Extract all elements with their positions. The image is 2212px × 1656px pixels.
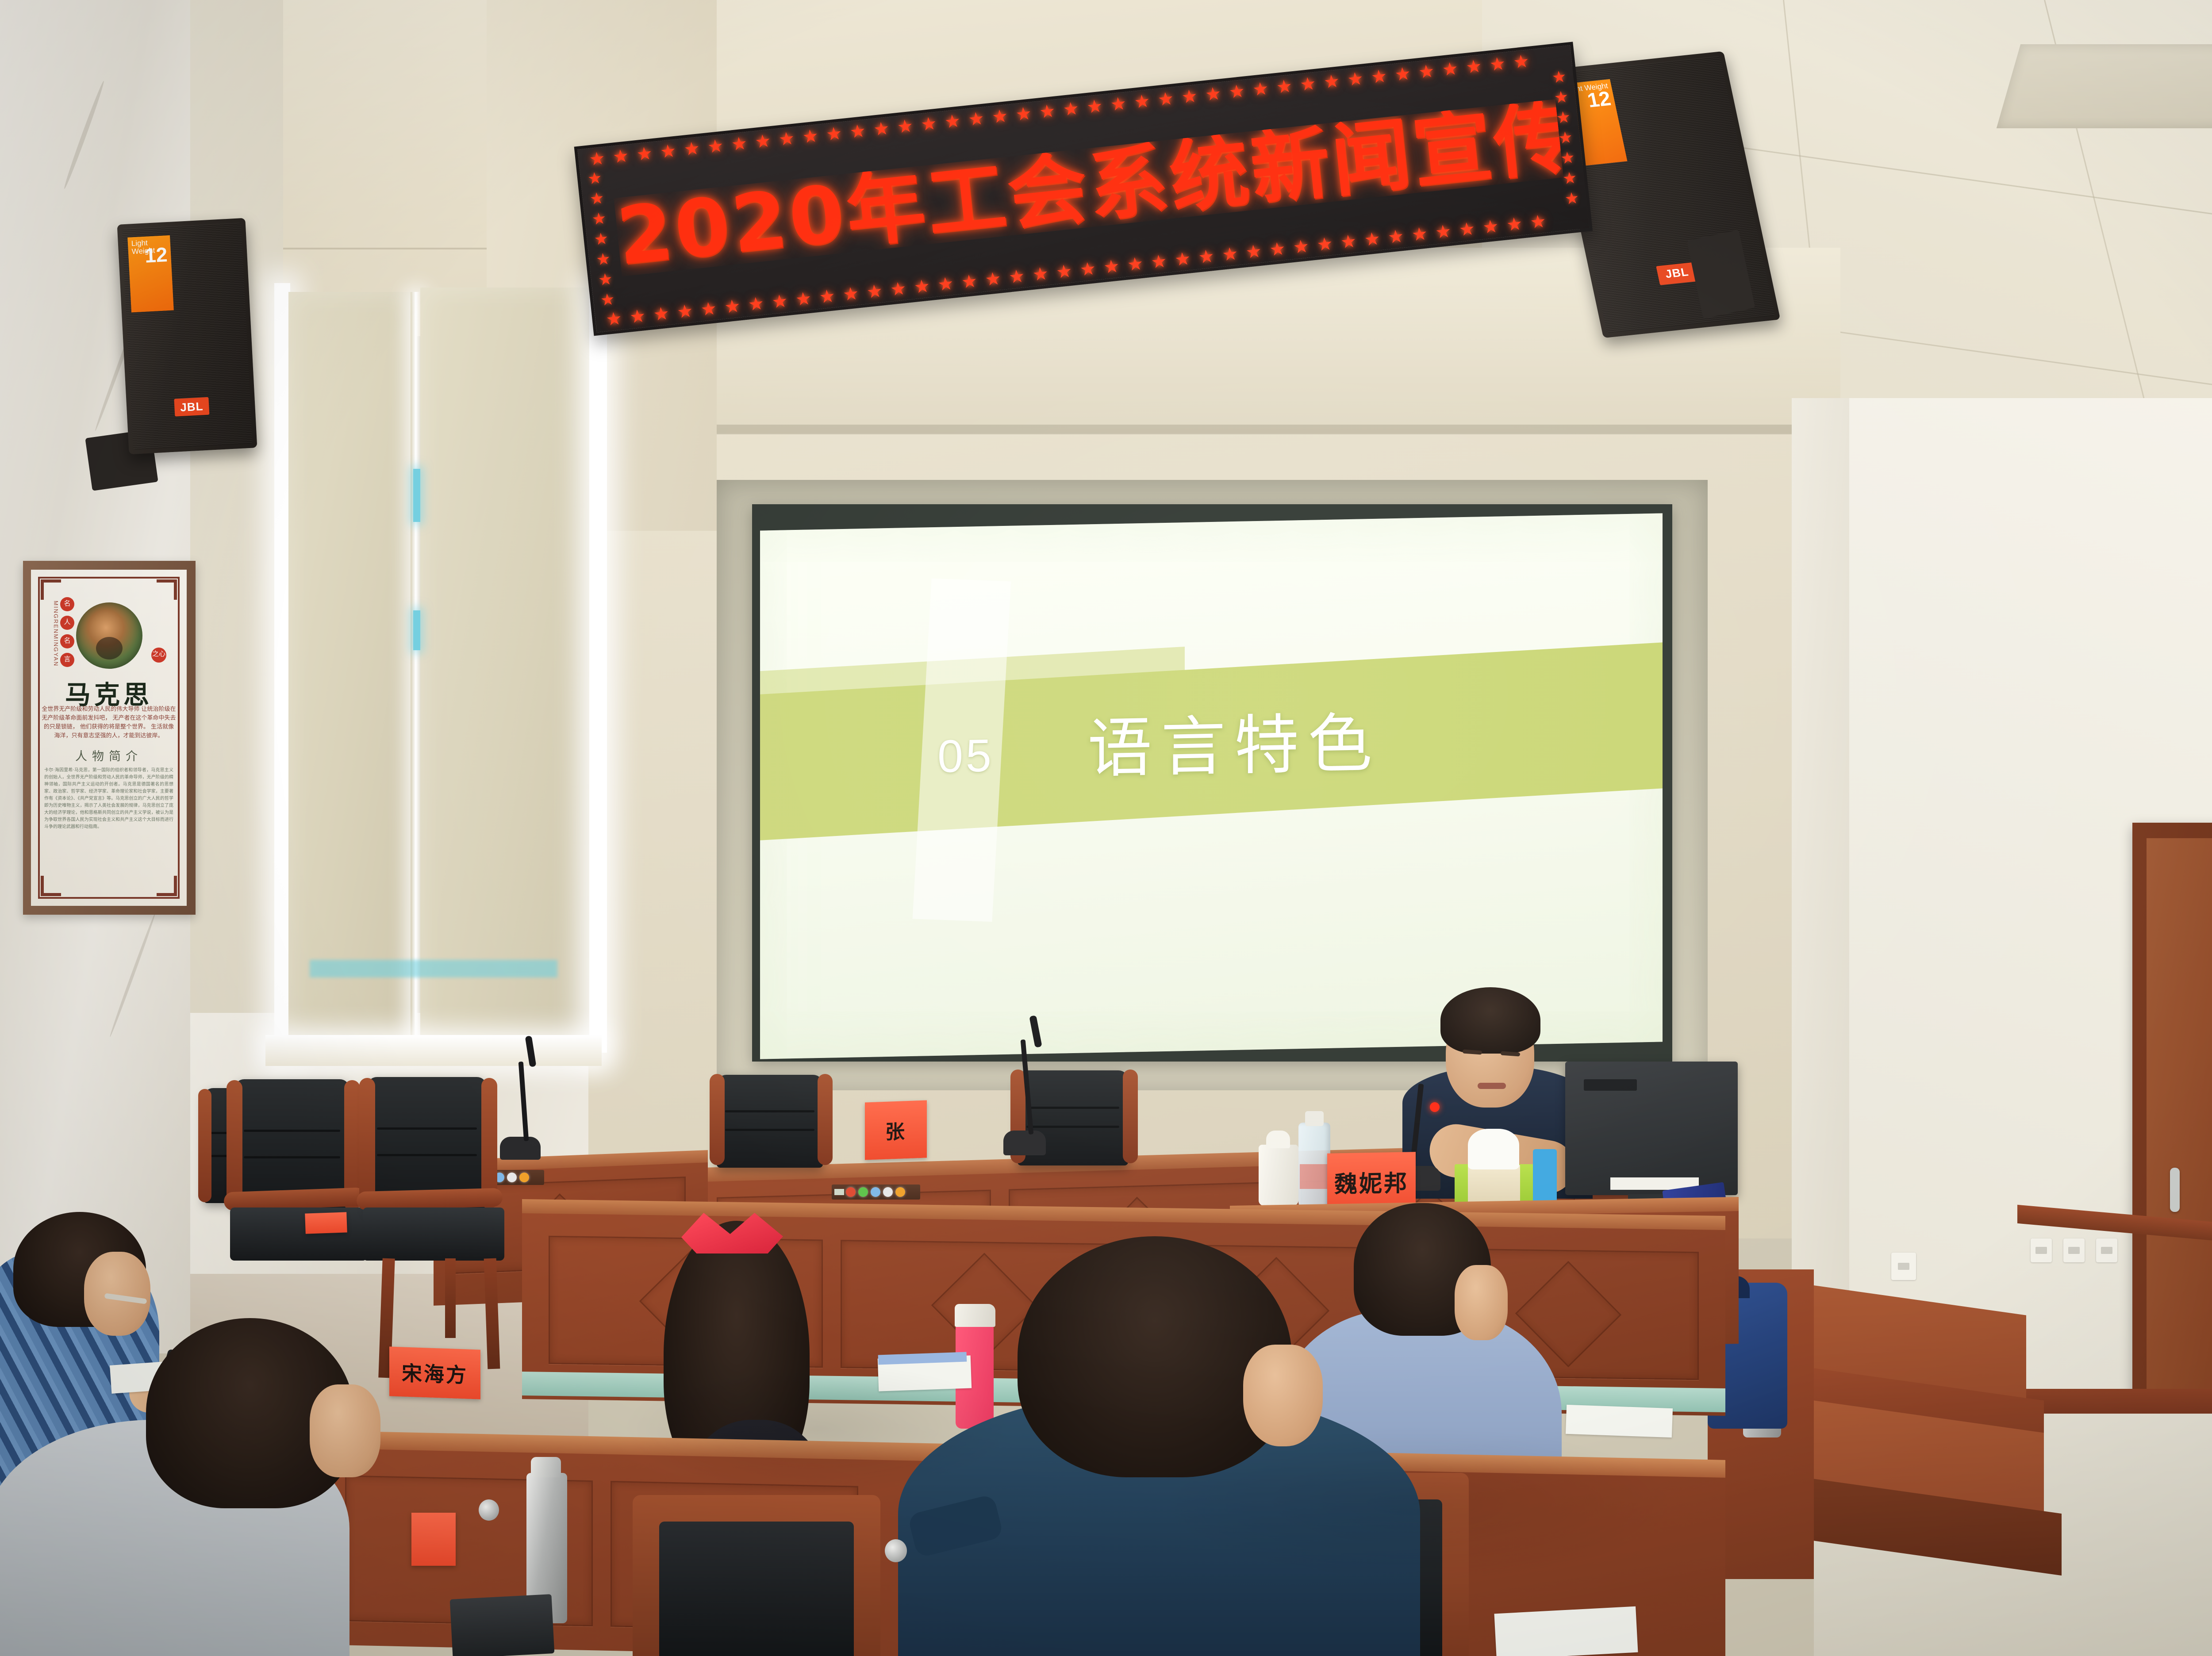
slide-title: 语言特色 [1087,691,1381,790]
desk-grommet [479,1499,499,1521]
conference-room-photo: MINGRENMINGYAN 名 人 名 言 之心 马克思 全世界无产阶级和劳动… [0,0,2212,1656]
control-button[interactable] [871,1187,880,1197]
door-handle[interactable] [2170,1168,2180,1212]
control-button[interactable] [895,1187,905,1197]
chair-armrest [357,1188,503,1211]
bottle-cap [1305,1111,1324,1126]
shadow [619,1362,1018,1495]
poster-corner-ornament [157,876,177,896]
microphone-base [1003,1131,1046,1155]
poster-seal-icon: 名 [60,597,74,611]
nameplate-text: 宋海方 [389,1346,480,1399]
control-button[interactable] [507,1173,517,1182]
nameplate-head-table: 张 [865,1100,927,1160]
projection-screen: 05 语言特色 [760,513,1663,1059]
window-light-edge [274,283,290,1053]
poster-body-text: 卡尔·海因里希·马克思，第一国际的组织者和领导者，马克思主义的创始人，全世界无产… [44,767,173,831]
poster-corner-ornament [41,579,61,600]
power-outlet[interactable] [1891,1253,1916,1280]
window-blind-panel[interactable] [288,292,417,1044]
wall-pilaster [1792,398,1849,1407]
thermos-lid [531,1457,561,1477]
power-outlet[interactable] [2063,1238,2085,1262]
poster-pinyin-label: MINGRENMINGYAN [46,601,59,667]
audience-chair-cushion [659,1522,854,1656]
slide-number: 05 [928,729,1003,783]
chair-wing [359,1078,375,1209]
power-outlet[interactable] [2031,1238,2052,1262]
nameplate-presenter: 魏妮邦 [1327,1152,1416,1211]
poster-corner-ornament [41,876,61,896]
jbl-logo-icon: JBL [174,397,209,417]
microphone-led-indicator [1430,1102,1440,1112]
head-table-chair[interactable] [717,1075,823,1168]
nameplate-text [305,1212,347,1234]
control-button[interactable] [519,1173,529,1182]
window-blue-glow [310,960,557,977]
jbl-logo-text: JBL [174,397,209,417]
poster-section-heading: 人物简介 [31,747,187,764]
control-panel-display [834,1189,844,1195]
led-star-col-left: ★★★★★★★ [587,168,616,311]
bottle-cap [955,1304,995,1327]
gray-shirt-attendee-ear [310,1384,380,1477]
window-glass-reflection [413,610,420,650]
window-sill [265,1035,602,1066]
poster-seal-icon: 人 [60,616,74,630]
chair-seat [363,1207,504,1261]
chair-seat [230,1207,367,1261]
chair-wing [710,1074,725,1165]
av-control-panel[interactable] [832,1184,920,1200]
chair-wing [198,1089,211,1202]
control-button[interactable] [846,1187,856,1197]
chair-wing [1123,1069,1138,1163]
attendee-ear-face [1455,1265,1508,1340]
marx-portrait [76,602,142,669]
poster-corner-ornament [157,579,177,600]
nameplate-text: 张 [865,1100,927,1160]
poster-quote: 全世界无产阶级和劳动人民的伟大导师 让统治阶级在无产阶级革命面前发抖吧， 无产者… [42,705,176,741]
speaker-sticker: Light Weight 12 [127,235,174,313]
poster-seal-icon: 名 [60,634,74,648]
window-blind-panel[interactable] [420,287,593,1048]
monitor-logo [1584,1079,1637,1091]
speaker-sticker-number: 12 [144,242,168,268]
nameplate-side-chair [305,1212,347,1234]
nameplate-front-left: 宋海方 [389,1346,480,1399]
shadow [1150,1424,1681,1583]
left-attendee-face [84,1252,150,1336]
wall-speaker-left: Light Weight 12 JBL [117,218,257,454]
phone[interactable] [450,1594,555,1656]
poster-seal-icon: 之心 [151,648,166,663]
nameplate-foreground [411,1513,456,1566]
marx-poster: MINGRENMINGYAN 名 人 名 言 之心 马克思 全世界无产阶级和劳动… [31,570,187,906]
soffit-shadow [522,425,1840,434]
presenter-mouth [1478,1083,1506,1089]
ceramic-cup[interactable] [1259,1145,1298,1206]
presenter-hair [1440,987,1540,1054]
nameplate-text: 魏妮邦 [1327,1152,1416,1211]
window-glass-reflection [413,469,420,522]
desk-grommet [885,1539,907,1562]
power-outlet[interactable] [2096,1238,2117,1262]
microphone-base [500,1137,541,1160]
poster-seal-icon: 言 [60,653,74,667]
ceiling-vent [1997,44,2212,128]
tissue[interactable] [1468,1129,1519,1169]
chair-leg [445,1258,456,1338]
chair-wing [818,1074,833,1165]
control-button[interactable] [858,1187,868,1197]
cup-lid [1266,1131,1290,1148]
control-button[interactable] [883,1187,893,1197]
papers-foreground[interactable] [1494,1606,1638,1656]
bottle-label [1300,1164,1329,1189]
